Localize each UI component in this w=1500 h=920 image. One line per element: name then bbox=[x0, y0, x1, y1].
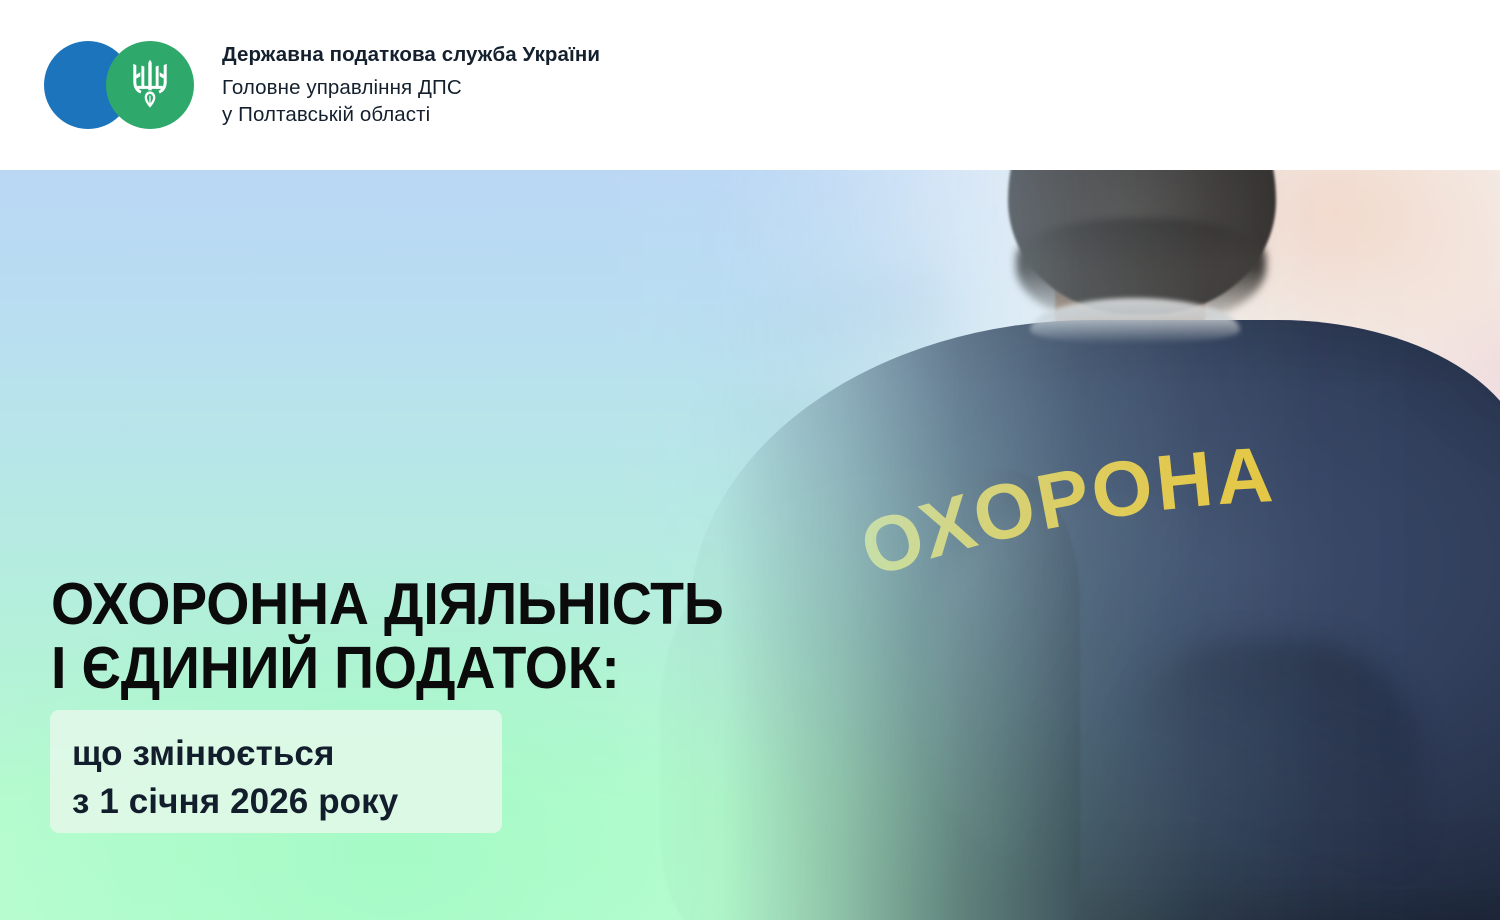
page-title-line-1: ОХОРОННА ДІЯЛЬНІСТЬ bbox=[51, 571, 724, 637]
page-title: ОХОРОННА ДІЯЛЬНІСТЬ І ЄДИНИЙ ПОДАТОК: bbox=[51, 572, 765, 700]
ukrainian-trident-icon bbox=[106, 41, 194, 129]
subtitle-line-1: що змінюється bbox=[72, 730, 480, 778]
page-title-line-2: І ЄДИНИЙ ПОДАТОК: bbox=[51, 636, 765, 700]
hero-banner: ОХОРОНА ОХОРОННА ДІЯЛЬНІСТЬ І ЄДИНИЙ ПОД… bbox=[0, 170, 1500, 920]
banner-page: Державна податкова служба України Головн… bbox=[0, 0, 1500, 920]
org-name-line-3: у Полтавській області bbox=[222, 105, 600, 126]
site-header: Державна податкова служба України Головн… bbox=[0, 0, 1500, 170]
subtitle-box: що змінюється з 1 січня 2026 року bbox=[50, 710, 502, 833]
org-name-line-1: Державна податкова служба України bbox=[222, 45, 600, 66]
dps-logo[interactable] bbox=[44, 41, 196, 129]
brand-block[interactable]: Державна податкова служба України Головн… bbox=[0, 41, 600, 129]
org-name-line-2: Головне управління ДПС bbox=[222, 78, 600, 99]
subtitle-line-2: з 1 січня 2026 року bbox=[72, 778, 480, 826]
org-name-block: Державна податкова служба України Головн… bbox=[196, 45, 600, 126]
